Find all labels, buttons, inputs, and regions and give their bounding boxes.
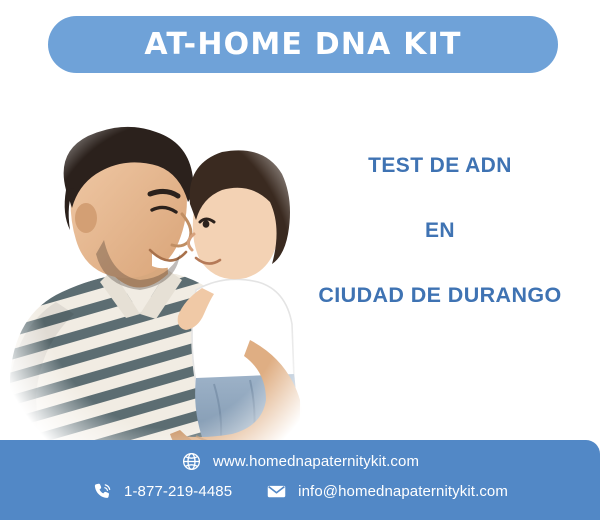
headline-line-3: CIUDAD DE DURANGO bbox=[290, 285, 590, 307]
website-label: www.homednapaternitykit.com bbox=[213, 453, 419, 470]
phone-icon bbox=[92, 481, 113, 502]
website-contact[interactable]: www.homednapaternitykit.com bbox=[181, 451, 419, 472]
page-title: AT-HOME DNA KIT bbox=[144, 27, 461, 62]
headline-block: TEST DE ADN EN CIUDAD DE DURANGO bbox=[290, 155, 590, 307]
headline-line-2: EN bbox=[290, 220, 590, 241]
globe-icon bbox=[181, 451, 202, 472]
promo-card: AT-HOME DNA KIT bbox=[0, 0, 600, 520]
footer-bar: www.homednapaternitykit.com 1-877-219-44… bbox=[0, 440, 600, 520]
email-label: info@homednapaternitykit.com bbox=[298, 483, 508, 500]
headline-line-1: TEST DE ADN bbox=[290, 155, 590, 176]
email-contact[interactable]: info@homednapaternitykit.com bbox=[266, 481, 508, 502]
envelope-icon bbox=[266, 481, 287, 502]
header-banner: AT-HOME DNA KIT bbox=[48, 16, 558, 73]
phone-contact[interactable]: 1-877-219-4485 bbox=[92, 481, 232, 502]
family-photo bbox=[0, 78, 330, 473]
footer-contact-row: 1-877-219-4485 info@homednapaternitykit.… bbox=[0, 481, 600, 502]
phone-label: 1-877-219-4485 bbox=[124, 483, 232, 500]
footer-website-row: www.homednapaternitykit.com bbox=[0, 451, 600, 472]
